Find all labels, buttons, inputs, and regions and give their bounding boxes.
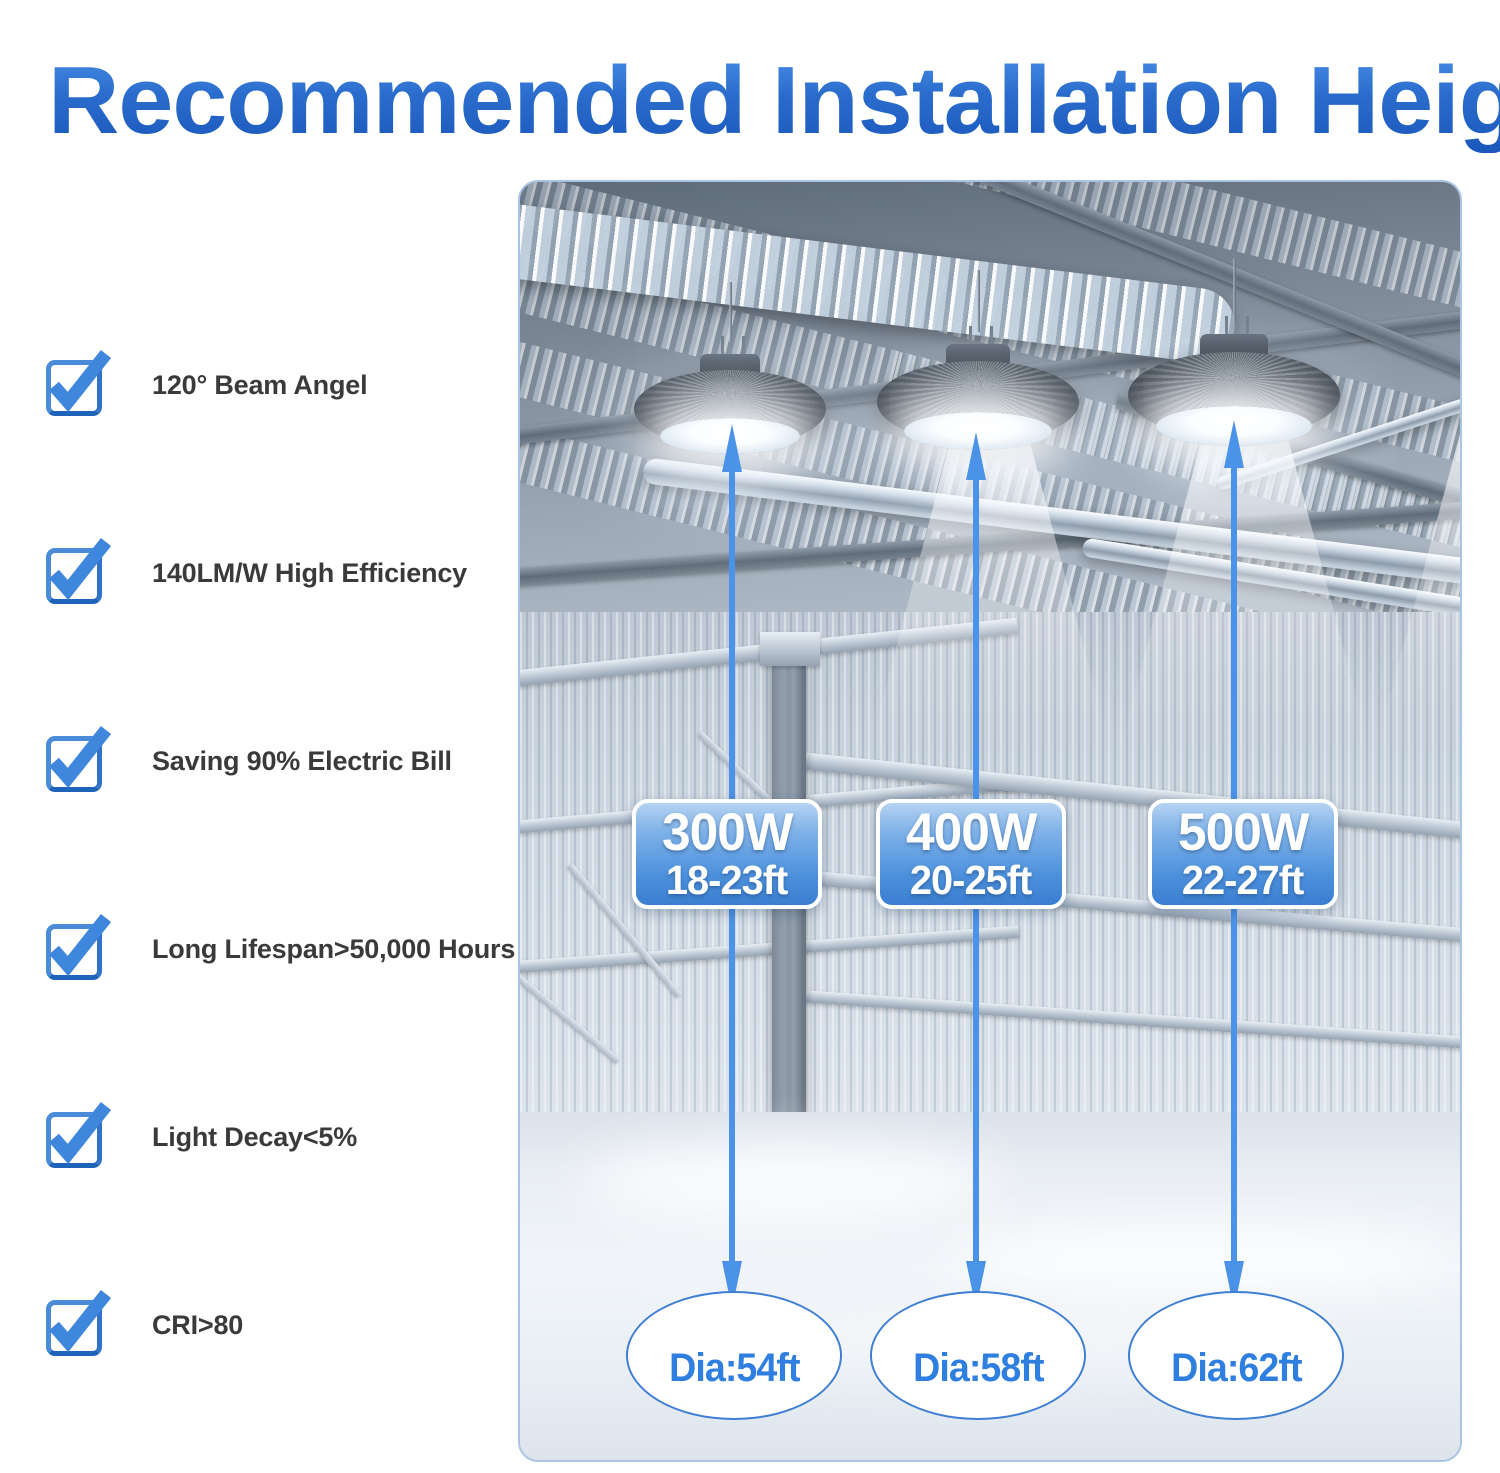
- feature-label: Saving 90% Electric Bill: [152, 746, 452, 777]
- checkbox-checked-icon: [40, 1290, 110, 1360]
- checkbox-checked-icon: [40, 350, 110, 420]
- coverage-label: Dia:62ft: [1171, 1320, 1301, 1391]
- beam-arrow-up-400w: [966, 432, 986, 799]
- feature-label: Long Lifespan>50,000 Hours: [152, 934, 515, 965]
- feature-label: Light Decay<5%: [152, 1122, 357, 1153]
- badge-wattage: 500W: [1178, 807, 1308, 859]
- badge-height: 18-23ft: [666, 859, 787, 901]
- warehouse-photo: 300W 18-23ft 400W 20-25ft 500W 22-27ft D…: [518, 180, 1462, 1462]
- badge-height: 22-27ft: [1182, 859, 1303, 901]
- coverage-ellipse-500w: Dia:62ft: [1128, 1291, 1344, 1420]
- spread-arrow-down-300w: [722, 909, 742, 1309]
- coverage-label: Dia:54ft: [669, 1320, 799, 1391]
- beam-arrow-up-300w: [722, 424, 742, 799]
- feature-item-4: Light Decay<5%: [40, 1102, 357, 1172]
- feature-item-2: Saving 90% Electric Bill: [40, 726, 452, 796]
- badge-wattage: 400W: [906, 807, 1036, 859]
- feature-label: 120° Beam Angel: [152, 370, 367, 401]
- feature-item-5: CRI>80: [40, 1290, 243, 1360]
- feature-item-3: Long Lifespan>50,000 Hours: [40, 914, 515, 984]
- wattage-badge-300w: 300W 18-23ft: [632, 799, 822, 909]
- feature-item-0: 120° Beam Angel: [40, 350, 367, 420]
- spread-arrow-down-500w: [1224, 909, 1244, 1309]
- coverage-label: Dia:58ft: [913, 1320, 1043, 1391]
- feature-label: CRI>80: [152, 1310, 243, 1341]
- checkbox-checked-icon: [40, 726, 110, 796]
- checkbox-checked-icon: [40, 538, 110, 608]
- checkbox-checked-icon: [40, 1102, 110, 1172]
- badge-height: 20-25ft: [910, 859, 1031, 901]
- wattage-badge-500w: 500W 22-27ft: [1148, 799, 1338, 909]
- feature-item-1: 140LM/W High Efficiency: [40, 538, 467, 608]
- page-title: Recommended Installation Height: [48, 48, 1500, 153]
- beam-arrow-up-500w: [1224, 420, 1244, 799]
- coverage-ellipse-400w: Dia:58ft: [870, 1291, 1086, 1420]
- badge-wattage: 300W: [662, 807, 792, 859]
- coverage-ellipse-300w: Dia:54ft: [626, 1291, 842, 1420]
- spread-arrow-down-400w: [966, 909, 986, 1309]
- wattage-badge-400w: 400W 20-25ft: [876, 799, 1066, 909]
- checkbox-checked-icon: [40, 914, 110, 984]
- feature-label: 140LM/W High Efficiency: [152, 558, 467, 589]
